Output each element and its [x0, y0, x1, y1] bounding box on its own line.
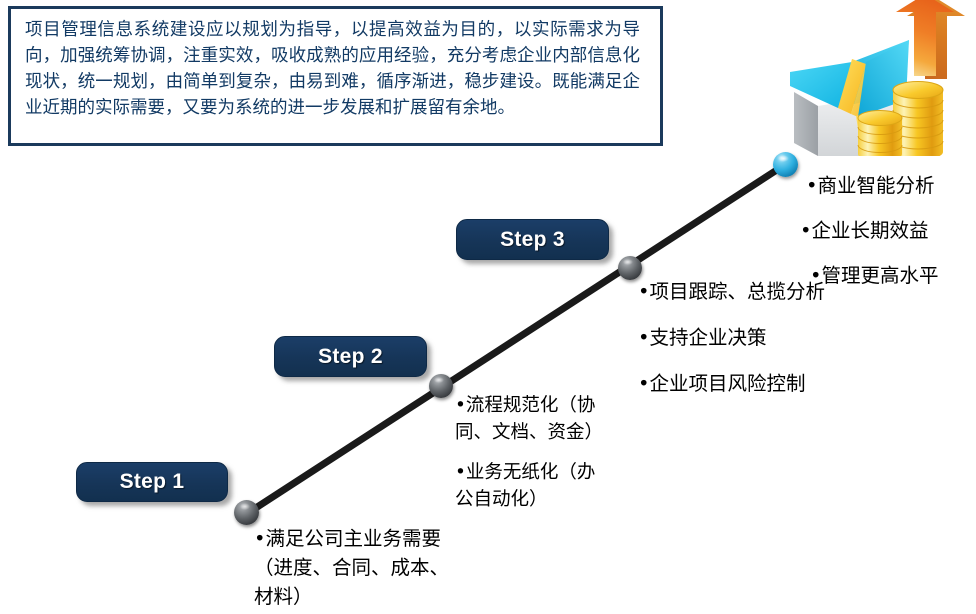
coin-stack-short-icon — [858, 111, 902, 157]
milestone-sphere-step3 — [618, 256, 642, 280]
step-2-bullet-2: •业务无纸化（办 公自动化） — [455, 459, 633, 513]
step-1-bullet-1: •满足公司主业务需要 （进度、合同、成本、 材料） — [254, 524, 504, 611]
milestone-sphere-step1 — [234, 500, 259, 525]
step-2-plaque[interactable]: Step 2 — [274, 336, 427, 377]
step-3-bullet-3: •企业项目风险控制 — [638, 370, 888, 397]
step-1-label: Step 1 — [120, 470, 185, 494]
outcome-bullet-3: •管理更高水平 — [798, 262, 976, 289]
intro-text-box: 项目管理信息系统建设应以规划为指导，以提高效益为目的，以实际需求为导向，加强统筹… — [8, 6, 663, 146]
step-3-plaque[interactable]: Step 3 — [456, 219, 609, 260]
slide-canvas: 项目管理信息系统建设应以规划为指导，以提高效益为目的，以实际需求为导向，加强统筹… — [0, 0, 976, 614]
step-3-label: Step 3 — [500, 228, 565, 252]
step-2-bullets: •流程规范化（协 同、文档、资金） •业务无纸化（办 公自动化） — [455, 392, 633, 513]
house-growth-coins-illustration — [778, 0, 976, 156]
outcome-bullets: •商业智能分析 •企业长期效益 •管理更高水平 — [798, 172, 976, 289]
step-1-plaque[interactable]: Step 1 — [76, 462, 228, 502]
intro-paragraph: 项目管理信息系统建设应以规划为指导，以提高效益为目的，以实际需求为导向，加强统筹… — [25, 17, 640, 121]
step-1-bullets: •满足公司主业务需要 （进度、合同、成本、 材料） — [254, 524, 504, 611]
milestone-sphere-step2 — [429, 374, 453, 398]
outcome-bullet-2: •企业长期效益 — [798, 217, 976, 244]
step-3-bullets: •项目跟踪、总揽分析 •支持企业决策 •企业项目风险控制 — [638, 278, 888, 397]
step-2-label: Step 2 — [318, 345, 383, 369]
step-2-bullet-1: •流程规范化（协 同、文档、资金） — [455, 392, 633, 446]
step-3-bullet-2: •支持企业决策 — [638, 324, 888, 351]
outcome-bullet-1: •商业智能分析 — [798, 172, 976, 199]
